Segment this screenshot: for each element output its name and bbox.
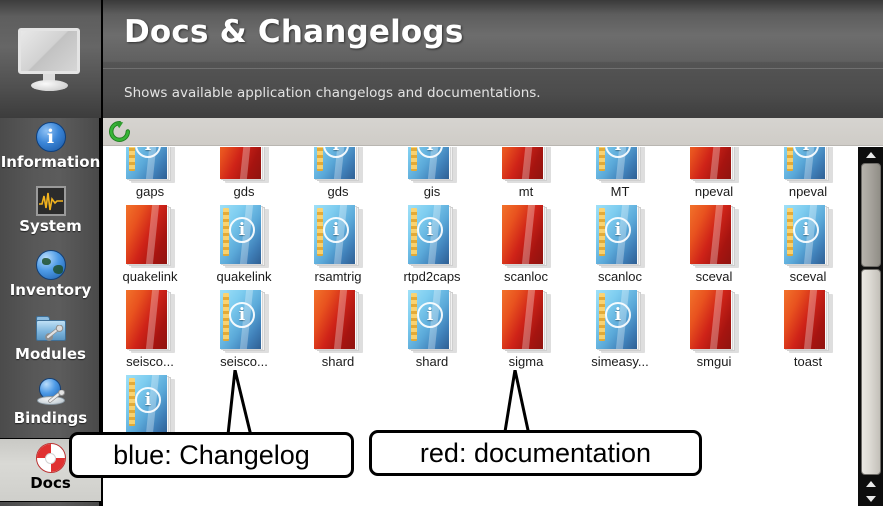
scrollbar-thumb-lower[interactable]	[861, 269, 881, 475]
page-header: Docs & Changelogs Shows available applic…	[0, 0, 883, 118]
sidebar-item-label: Docs	[30, 474, 71, 492]
file-item-label: npeval	[695, 184, 733, 199]
info-circle-icon: i	[36, 122, 66, 152]
folder-wrench-icon	[36, 314, 66, 344]
annotation-red-documentation: red: documentation	[369, 430, 702, 476]
sidebar-item-label: Modules	[15, 345, 86, 363]
globe-icon	[36, 250, 66, 280]
file-item-label: toast	[794, 354, 822, 369]
vertical-scrollbar[interactable]	[858, 147, 883, 506]
file-item-label: seisco...	[126, 354, 174, 369]
file-item[interactable]: iMT	[573, 147, 667, 205]
annotation-blue-changelog: blue: Changelog	[69, 432, 354, 478]
documentation-book-icon[interactable]	[502, 205, 550, 267]
file-item-label: MT	[611, 184, 630, 199]
file-item-label: rtpd2caps	[403, 269, 460, 284]
documentation-book-icon[interactable]	[690, 147, 738, 182]
sidebar-item-modules[interactable]: Modules	[0, 310, 101, 374]
sidebar-item-system[interactable]: System	[0, 182, 101, 246]
changelog-book-icon[interactable]: i	[596, 290, 644, 352]
file-item-label: shard	[416, 354, 449, 369]
file-item-label: scanloc	[598, 269, 642, 284]
file-item-label: simeasy...	[591, 354, 649, 369]
file-item[interactable]: isceval	[761, 205, 855, 290]
file-item-label: quakelink	[123, 269, 178, 284]
file-item[interactable]: sigma	[479, 290, 573, 375]
file-item[interactable]: irtpd2caps	[385, 205, 479, 290]
changelog-book-icon[interactable]: i	[220, 205, 268, 267]
documentation-book-icon[interactable]	[502, 147, 550, 182]
changelog-book-icon[interactable]: i	[408, 205, 456, 267]
waveform-monitor-icon	[36, 186, 66, 216]
scroll-up-button-bottom[interactable]	[860, 476, 881, 491]
sidebar-item-label: Bindings	[14, 409, 87, 427]
file-item[interactable]: igaps	[103, 147, 197, 205]
file-item-label: mt	[519, 184, 533, 199]
file-grid-row: seisco...iseisco...shardishardsigmaisime…	[103, 290, 858, 375]
file-item[interactable]: iseisco...	[197, 290, 291, 375]
file-item-label: gaps	[136, 184, 164, 199]
file-item-label: sceval	[790, 269, 827, 284]
scrollbar-thumb-upper[interactable]	[861, 163, 881, 267]
changelog-book-icon[interactable]: i	[408, 147, 456, 182]
file-item[interactable]: irsamtrig	[291, 205, 385, 290]
file-item[interactable]: isimeasy...	[573, 290, 667, 375]
file-item[interactable]: toast	[761, 290, 855, 375]
file-item-label: npeval	[789, 184, 827, 199]
file-item[interactable]: iscanloc	[573, 205, 667, 290]
chevron-down-icon	[866, 496, 876, 502]
file-item[interactable]: igds	[291, 147, 385, 205]
file-grid-row: quakelinkiquakelinkirsamtrigirtpd2capssc…	[103, 205, 858, 290]
file-item[interactable]: iquakelink	[197, 205, 291, 290]
refresh-icon[interactable]	[109, 121, 130, 142]
changelog-book-icon[interactable]: i	[784, 147, 832, 182]
file-item-label: gis	[424, 184, 441, 199]
file-item[interactable]: ishard	[385, 290, 479, 375]
file-item[interactable]: igis	[385, 147, 479, 205]
chevron-up-icon	[866, 152, 876, 158]
file-item-label: gds	[328, 184, 349, 199]
changelog-book-icon[interactable]: i	[596, 147, 644, 182]
file-item-label: sceval	[696, 269, 733, 284]
file-item-label: smgui	[697, 354, 732, 369]
file-item-label: gds	[234, 184, 255, 199]
documentation-book-icon[interactable]	[220, 147, 268, 182]
file-item-label: shard	[322, 354, 355, 369]
chevron-up-icon	[866, 481, 876, 487]
documentation-book-icon[interactable]	[784, 290, 832, 352]
file-grid-row: igapsgdsigdsigismtiMTnpevalinpeval	[103, 147, 858, 205]
file-item[interactable]: mt	[479, 147, 573, 205]
globe-wrench-icon	[36, 378, 66, 408]
scroll-down-button[interactable]	[860, 491, 881, 506]
file-item-label: scanloc	[504, 269, 548, 284]
page-title: Docs & Changelogs	[124, 14, 463, 50]
changelog-book-icon[interactable]: i	[784, 205, 832, 267]
changelog-book-icon[interactable]: i	[126, 375, 174, 437]
file-item[interactable]: gds	[197, 147, 291, 205]
toolbar	[103, 118, 883, 146]
header-text-block: Docs & Changelogs Shows available applic…	[103, 0, 883, 118]
documentation-book-icon[interactable]	[502, 290, 550, 352]
lifebuoy-icon	[36, 443, 66, 473]
sidebar-item-information[interactable]: iInformation	[0, 118, 101, 182]
file-item[interactable]: scanloc	[479, 205, 573, 290]
file-item[interactable]: inpeval	[761, 147, 855, 205]
scroll-up-button[interactable]	[860, 147, 881, 162]
sidebar-item-inventory[interactable]: Inventory	[0, 246, 101, 310]
application-window: Docs & Changelogs Shows available applic…	[0, 0, 883, 506]
documentation-book-icon[interactable]	[126, 205, 174, 267]
file-item[interactable]: seisco...	[103, 290, 197, 375]
changelog-book-icon[interactable]: i	[596, 205, 644, 267]
changelog-book-icon[interactable]: i	[126, 147, 174, 182]
page-subtitle: Shows available application changelogs a…	[124, 85, 541, 101]
sidebar-item-label: Inventory	[10, 281, 92, 299]
file-item-label: seisco...	[220, 354, 268, 369]
file-item[interactable]: npeval	[667, 147, 761, 205]
changelog-book-icon[interactable]: i	[408, 290, 456, 352]
file-item[interactable]: sceval	[667, 205, 761, 290]
file-item-label: quakelink	[217, 269, 272, 284]
header-monitor-icon-box	[0, 0, 103, 118]
sidebar-item-bindings[interactable]: Bindings	[0, 374, 101, 438]
documentation-book-icon[interactable]	[690, 290, 738, 352]
documentation-book-icon[interactable]	[690, 205, 738, 267]
sidebar-item-label: System	[19, 217, 81, 235]
documentation-book-icon[interactable]	[314, 290, 362, 352]
file-item[interactable]: quakelink	[103, 205, 197, 290]
changelog-book-icon[interactable]: i	[314, 147, 362, 182]
changelog-book-icon[interactable]: i	[220, 290, 268, 352]
monitor-icon	[16, 28, 86, 90]
header-divider	[103, 68, 883, 69]
file-item[interactable]: shard	[291, 290, 385, 375]
file-item-label: rsamtrig	[315, 269, 362, 284]
file-item-label: sigma	[509, 354, 544, 369]
changelog-book-icon[interactable]: i	[314, 205, 362, 267]
documentation-book-icon[interactable]	[126, 290, 174, 352]
sidebar-item-label: Information	[1, 153, 101, 171]
file-item[interactable]: smgui	[667, 290, 761, 375]
scrollbar-track[interactable]	[861, 163, 881, 475]
